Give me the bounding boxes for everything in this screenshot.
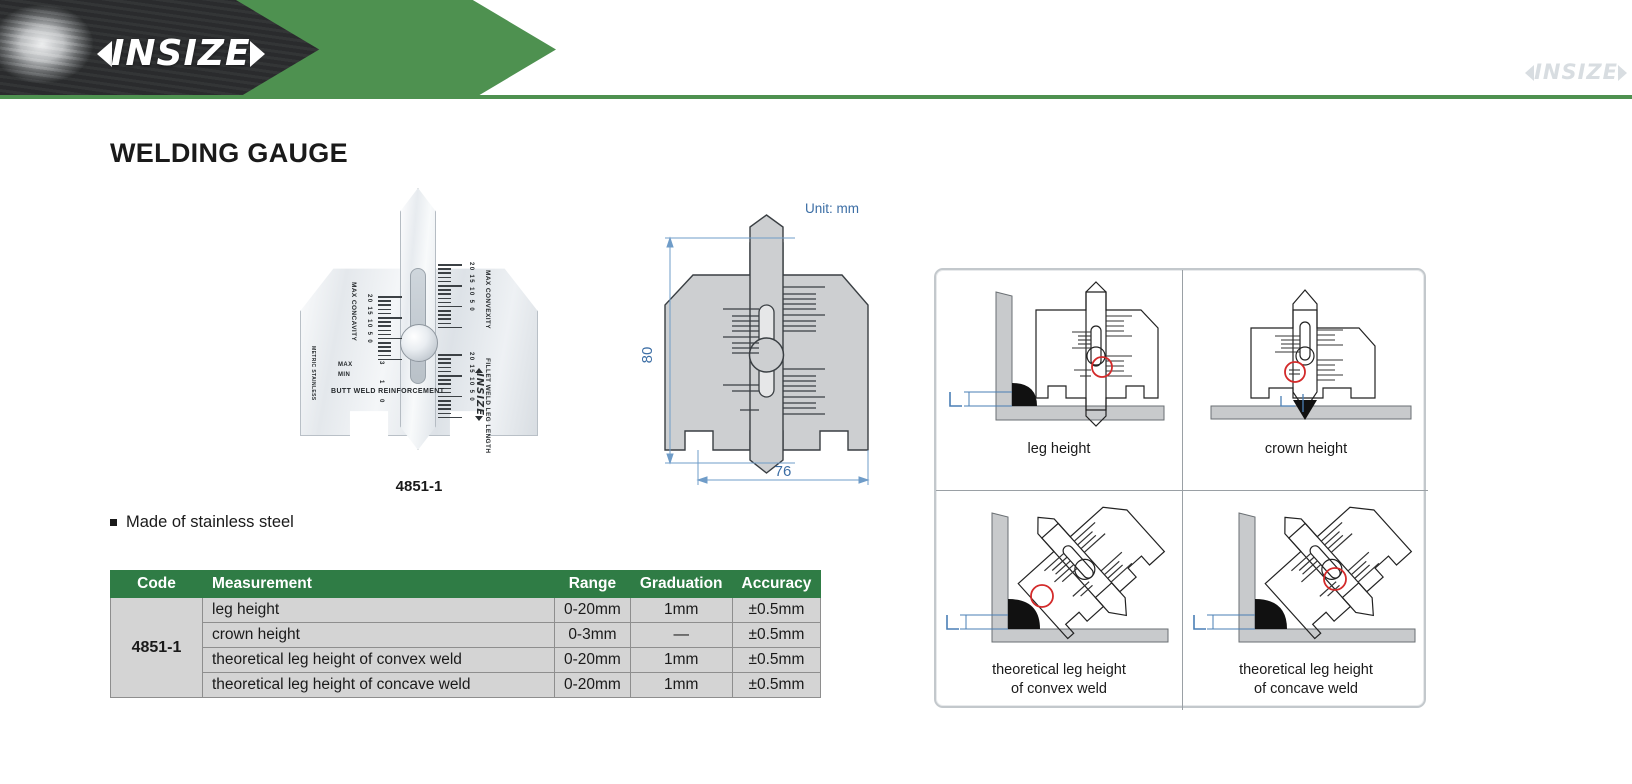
drawing-gauge-outline [665,215,868,473]
cell-code: 4851-1 [111,598,203,698]
cell-graduation: 1mm [630,648,732,673]
label-butt-weld: BUTT WELD REINFORCEMENT [331,388,444,395]
dimension-width-label: 76 [775,463,792,480]
application-caption-1: crown height [1183,440,1429,459]
highlight-circle-icon [1031,585,1053,607]
application-diagram-panel: leg height [934,268,1426,708]
cell-range: 0-3mm [555,623,631,648]
fig-crown-height [1183,270,1429,438]
header-code: Code [111,571,203,598]
left-scale-ticks [378,296,404,363]
fig-theoretical-concave [1183,491,1429,659]
header-green-rule [0,95,1632,99]
label-max-convexity: MAX CONVEXITY [484,270,491,329]
cell-graduation: 1mm [630,598,732,623]
application-cell-convex: theoretical leg height of convex weld [936,490,1182,710]
cell-graduation: 1mm [630,673,732,698]
header-accuracy: Accuracy [732,571,821,598]
application-caption-2: theoretical leg height of convex weld [936,661,1182,700]
application-cell-concave: theoretical leg height of concave weld [1182,490,1428,710]
fig-theoretical-convex [936,491,1182,659]
label-metric-stainless: METRIC STAINLESS [310,346,316,401]
watermark-right-arrow-icon [1618,65,1627,81]
cell-range: 0-20mm [555,673,631,698]
cell-measurement: theoretical leg height of convex weld [203,648,555,673]
header-range: Range [555,571,631,598]
label-min: MIN [338,372,350,378]
highlight-circle-icon [1285,362,1305,382]
label-max-concavity: MAX CONCAVITY [350,282,357,341]
application-caption-0: leg height [936,440,1182,459]
label-fillet-weld-leg-length: FILLET WELD LEG LENGTH [484,358,491,453]
application-cell-leg-height: leg height [936,270,1182,490]
right-upper-scale-ticks [438,264,464,331]
insize-logo: INSIZE [97,36,265,72]
application-caption-3: theoretical leg height of concave weld [1183,661,1429,700]
product-model-caption: 4851-1 [288,478,550,495]
cell-accuracy: ±0.5mm [732,673,821,698]
highlight-circle-icon [1092,357,1112,377]
insize-logo-text: INSIZE [111,36,251,72]
application-cell-crown-height: crown height [1182,270,1428,490]
table-row: crown height 0-3mm — ±0.5mm [111,623,821,648]
butt-weld-numbers: 3 1 0 [378,361,384,409]
label-max: MAX [338,362,353,368]
right-upper-scale-numbers: 20 15 10 5 0 [468,262,474,312]
table-row: theoretical leg height of convex weld 0-… [111,648,821,673]
header-banner: INSIZE INSIZE [0,0,1632,99]
logo-left-arrow-icon [97,41,112,67]
page-title: WELDING GAUGE [110,138,348,169]
stamp-right-arrow-icon [475,416,483,421]
dimension-height-label: 80 [639,347,656,364]
cell-range: 0-20mm [555,598,631,623]
specification-table: Code Measurement Range Graduation Accura… [110,570,821,698]
technical-drawing: 80 76 [620,195,920,485]
square-bullet-icon [110,519,117,526]
cell-accuracy: ±0.5mm [732,623,821,648]
product-photo: 20 15 10 5 0 MAX CONCAVITY 20 15 10 5 0 … [288,186,550,454]
feature-bullet-text: Made of stainless steel [126,513,294,532]
datasheet-page: INSIZE INSIZE WELDING GAUGE 20 15 10 5 0… [0,0,1632,784]
gauge-brand-text: INSIZE [474,373,484,416]
watermark-left-arrow-icon [1525,65,1534,81]
insize-watermark-logo: INSIZE [1525,62,1627,83]
feature-bullet-row: Made of stainless steel [110,513,294,532]
table-header-row: Code Measurement Range Graduation Accura… [111,571,821,598]
fig-leg-height [936,270,1182,438]
logo-right-arrow-icon [250,41,265,67]
table-row: 4851-1 leg height 0-20mm 1mm ±0.5mm [111,598,821,623]
cell-measurement: leg height [203,598,555,623]
left-scale-numbers: 20 15 10 5 0 [366,294,372,344]
header-graduation: Graduation [630,571,732,598]
gauge-knob [400,324,438,362]
gauge-insize-stamp: INSIZE [474,368,484,421]
cell-measurement: theoretical leg height of concave weld [203,673,555,698]
header-measurement: Measurement [203,571,555,598]
table-row: theoretical leg height of concave weld 0… [111,673,821,698]
cell-measurement: crown height [203,623,555,648]
cell-graduation: — [630,623,732,648]
cell-range: 0-20mm [555,648,631,673]
watermark-logo-text: INSIZE [1534,62,1618,83]
cell-accuracy: ±0.5mm [732,648,821,673]
cell-accuracy: ±0.5mm [732,598,821,623]
